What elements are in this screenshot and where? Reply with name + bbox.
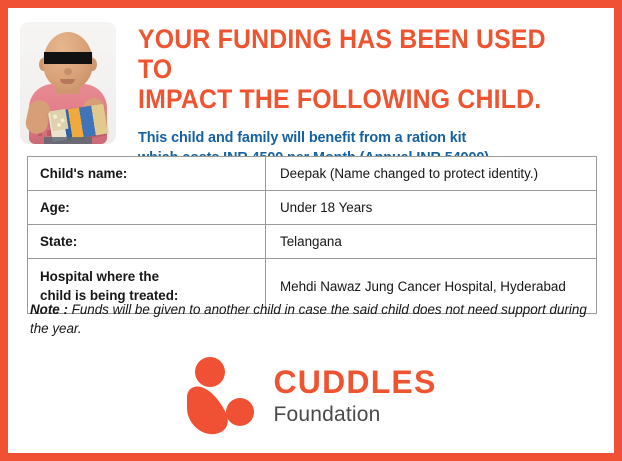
row-value-childs-name: Deepak (Name changed to protect identity… <box>266 157 597 191</box>
row-value-state: Telangana <box>266 225 597 259</box>
brand-logo: CUDDLES Foundation <box>8 348 614 443</box>
row-label-childs-name: Child's name: <box>28 157 266 191</box>
brand-wordmark: CUDDLES Foundation <box>273 366 436 425</box>
footnote-prefix: Note : <box>30 302 68 317</box>
impact-card: YOUR FUNDING HAS BEEN USED TO IMPACT THE… <box>0 0 622 461</box>
privacy-redaction-bar <box>44 52 92 64</box>
brand-subtitle: Foundation <box>273 398 436 425</box>
photo-shape-bib <box>44 137 92 144</box>
child-photo <box>20 22 116 144</box>
row-label-age: Age: <box>28 191 266 225</box>
photo-shape-grain <box>50 109 69 131</box>
photo-shape-nose <box>64 68 72 75</box>
table-row: Age: Under 18 Years <box>28 191 597 225</box>
cuddles-parent-and-child-icon <box>185 356 257 436</box>
row-label-state: State: <box>28 225 266 259</box>
child-details-table: Child's name: Deepak (Name changed to pr… <box>27 156 597 314</box>
card-inner: YOUR FUNDING HAS BEEN USED TO IMPACT THE… <box>8 8 614 453</box>
child-details-table-wrapper: Child's name: Deepak (Name changed to pr… <box>27 156 597 314</box>
table-row: Child's name: Deepak (Name changed to pr… <box>28 157 597 191</box>
footnote: Note : Funds will be given to another ch… <box>30 300 596 338</box>
row-label-hospital-line1: Hospital where the <box>40 269 159 284</box>
table-row: State: Telangana <box>28 225 597 259</box>
card-header: YOUR FUNDING HAS BEEN USED TO IMPACT THE… <box>8 8 614 148</box>
row-value-age: Under 18 Years <box>266 191 597 225</box>
header-text-block: YOUR FUNDING HAS BEEN USED TO IMPACT THE… <box>138 24 608 168</box>
page-title: YOUR FUNDING HAS BEEN USED TO IMPACT THE… <box>138 24 570 114</box>
brand-name: CUDDLES <box>273 366 436 398</box>
child-photo-image <box>20 22 116 144</box>
footnote-text: Funds will be given to another child in … <box>30 302 587 336</box>
